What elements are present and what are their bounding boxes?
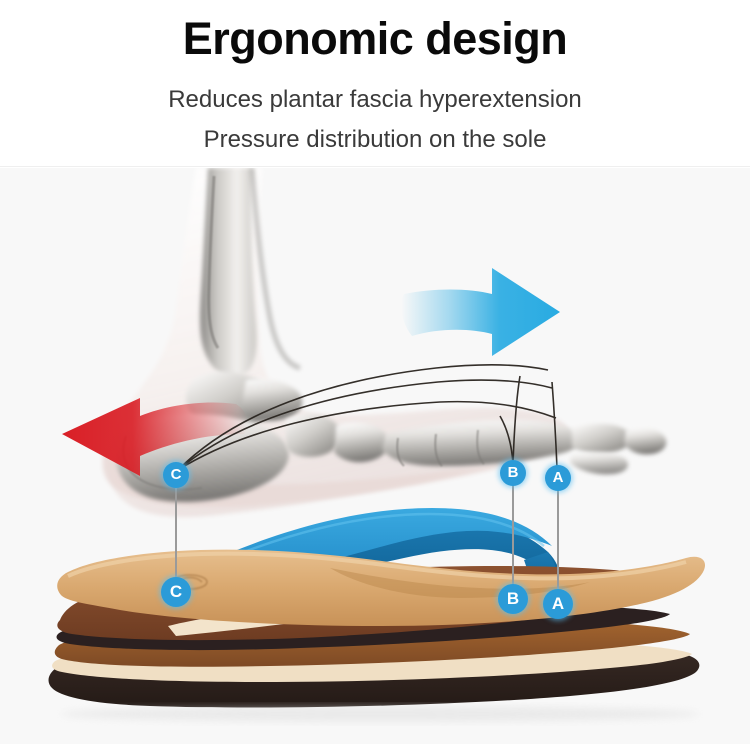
product-infographic: Ergonomic design Reduces plantar fascia …	[0, 0, 750, 744]
foot-label-b[interactable]: B	[500, 460, 526, 486]
foot-label-c[interactable]: C	[163, 462, 189, 488]
diagram-panel: C B A C B A	[0, 168, 750, 744]
toe-bones	[570, 424, 666, 475]
leader-line-b	[512, 475, 514, 597]
sole-label-b[interactable]: B	[498, 584, 528, 614]
subtitle-line-1: Reduces plantar fascia hyperextension	[0, 86, 750, 114]
layered-insole	[49, 550, 706, 722]
forward-force-arrow	[401, 268, 560, 356]
sole-label-c[interactable]: C	[161, 577, 191, 607]
header: Ergonomic design Reduces plantar fascia …	[0, 0, 750, 168]
sole-label-a[interactable]: A	[543, 589, 573, 619]
leader-line-c	[175, 477, 177, 591]
foot-label-a[interactable]: A	[545, 465, 571, 491]
diagram-stage	[0, 168, 750, 744]
subtitle-line-2: Pressure distribution on the sole	[0, 126, 750, 154]
leader-line-a	[557, 480, 559, 604]
page-title: Ergonomic design	[0, 14, 750, 64]
header-divider	[0, 166, 750, 167]
tibia-fibula-bones	[200, 168, 300, 377]
